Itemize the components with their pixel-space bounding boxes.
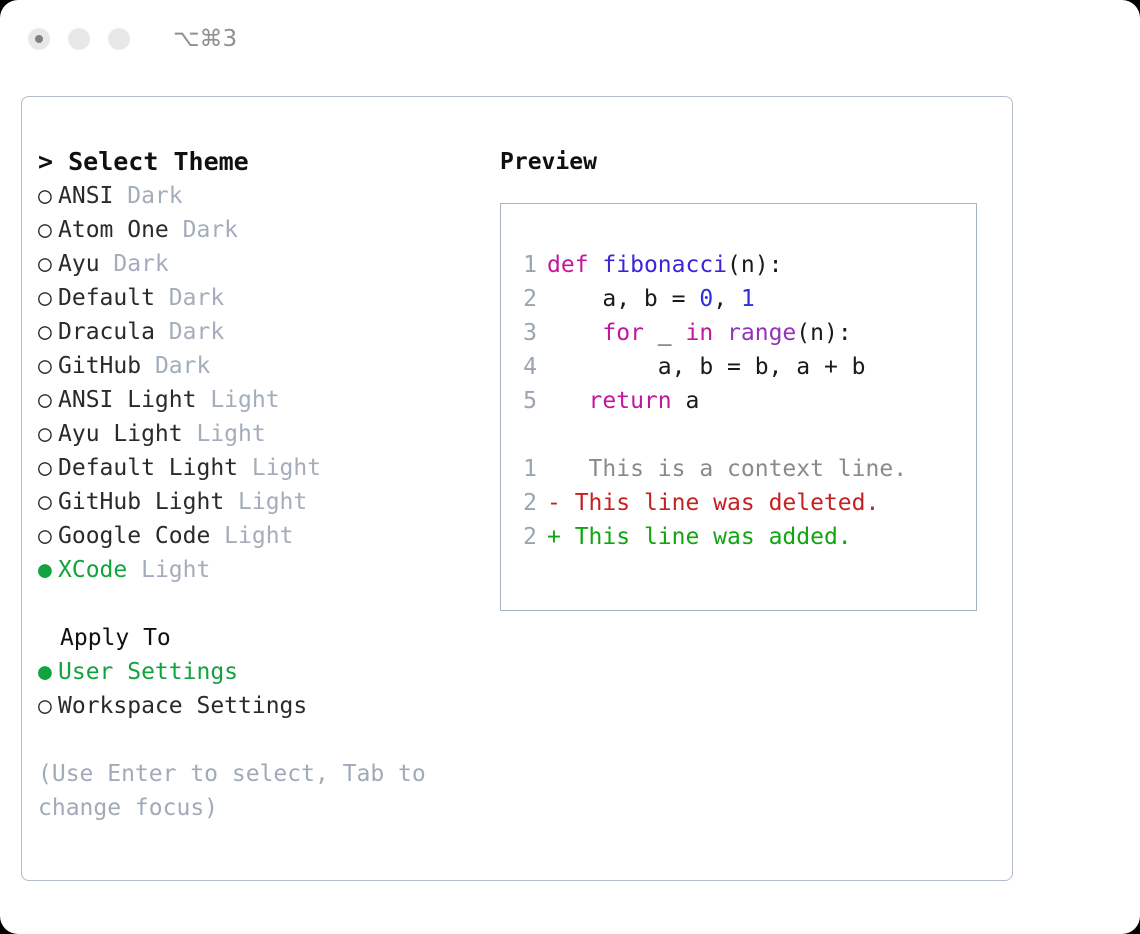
code-line: 1def fibonacci(n): xyxy=(517,248,976,282)
code-token-kw: def xyxy=(547,252,589,278)
radio-unselected-icon: ○ xyxy=(38,213,58,247)
theme-kind-label: Dark xyxy=(155,285,224,311)
apply-to-option[interactable]: ●User Settings xyxy=(38,655,498,689)
theme-selector-column: > Select Theme ○ANSI Dark○Atom One Dark○… xyxy=(22,97,498,880)
theme-name-label: Ayu Light xyxy=(58,421,183,447)
code-line: 4 a, b = b, a + b xyxy=(517,350,976,384)
diff-line: 1 This is a context line. xyxy=(517,452,976,486)
code-line: 5 return a xyxy=(517,384,976,418)
select-theme-header: > Select Theme xyxy=(38,145,498,179)
radio-unselected-icon: ○ xyxy=(38,281,58,315)
theme-list-item[interactable]: ○Ayu Light Light xyxy=(38,417,498,451)
theme-list: ○ANSI Dark○Atom One Dark○Ayu Dark○Defaul… xyxy=(38,179,498,587)
theme-kind-label: Dark xyxy=(169,217,238,243)
code-token-plain xyxy=(547,388,589,414)
radio-unselected-icon: ○ xyxy=(38,689,58,723)
theme-kind-label: Light xyxy=(127,557,210,583)
theme-list-item[interactable]: ●XCode Light xyxy=(38,553,498,587)
theme-name-label: Atom One xyxy=(58,217,169,243)
theme-list-item[interactable]: ○ANSI Light Light xyxy=(38,383,498,417)
diff-marker xyxy=(547,456,561,482)
theme-name-label: Default Light xyxy=(58,455,238,481)
diff-marker: + xyxy=(547,524,561,550)
code-token-fn: fibonacci xyxy=(602,252,727,278)
window-titlebar: ⌥⌘3 xyxy=(0,0,1140,78)
keyboard-shortcut-label: ⌥⌘3 xyxy=(173,26,237,52)
diff-line-number: 2 xyxy=(517,520,537,554)
diff-line-number: 2 xyxy=(517,486,537,520)
theme-kind-label: Light xyxy=(183,421,266,447)
section-spacer xyxy=(38,587,498,621)
diff-line-number: 1 xyxy=(517,452,537,486)
diff-text: This line was added. xyxy=(561,524,852,550)
main-panel: > Select Theme ○ANSI Dark○Atom One Dark○… xyxy=(21,96,1013,881)
code-line-number: 2 xyxy=(517,282,537,316)
theme-name-label: Dracula xyxy=(58,319,155,345)
diff-sample: 1 This is a context line.2- This line wa… xyxy=(517,452,976,554)
code-diff-spacer xyxy=(517,418,976,452)
radio-unselected-icon: ○ xyxy=(38,417,58,451)
code-token-plain xyxy=(713,320,727,346)
window-dot-active-icon[interactable] xyxy=(28,28,50,50)
theme-name-label: XCode xyxy=(58,557,127,583)
theme-list-item[interactable]: ○Ayu Dark xyxy=(38,247,498,281)
code-token-plain: _ xyxy=(644,320,686,346)
theme-list-item[interactable]: ○GitHub Light Light xyxy=(38,485,498,519)
app-window: ⌥⌘3 > Select Theme ○ANSI Dark○Atom One D… xyxy=(0,0,1140,934)
code-token-plain: (n): xyxy=(796,320,851,346)
theme-name-label: ANSI Light xyxy=(58,387,196,413)
preview-column: Preview 1def fibonacci(n):2 a, b = 0, 13… xyxy=(498,97,1012,880)
theme-kind-label: Dark xyxy=(141,353,210,379)
apply-to-header: Apply To xyxy=(38,621,498,655)
radio-unselected-icon: ○ xyxy=(38,519,58,553)
theme-list-item[interactable]: ○Atom One Dark xyxy=(38,213,498,247)
code-line-number: 1 xyxy=(517,248,537,282)
radio-unselected-icon: ○ xyxy=(38,485,58,519)
radio-unselected-icon: ○ xyxy=(38,247,58,281)
apply-to-option-label: User Settings xyxy=(58,659,238,685)
theme-list-item[interactable]: ○Dracula Dark xyxy=(38,315,498,349)
code-token-plain xyxy=(589,252,603,278)
window-dot-inner xyxy=(35,35,43,43)
radio-unselected-icon: ○ xyxy=(38,451,58,485)
apply-to-option-label: Workspace Settings xyxy=(58,693,307,719)
code-token-plain: , xyxy=(713,286,741,312)
code-token-num: 0 xyxy=(699,286,713,312)
theme-name-label: Ayu xyxy=(58,251,100,277)
radio-unselected-icon: ○ xyxy=(38,179,58,213)
code-token-plain xyxy=(547,320,602,346)
code-line-number: 3 xyxy=(517,316,537,350)
theme-name-label: Default xyxy=(58,285,155,311)
radio-selected-icon: ● xyxy=(38,553,58,587)
code-line-number: 4 xyxy=(517,350,537,384)
diff-line: 2+ This line was added. xyxy=(517,520,976,554)
theme-kind-label: Dark xyxy=(100,251,169,277)
theme-kind-label: Light xyxy=(196,387,279,413)
theme-name-label: Google Code xyxy=(58,523,210,549)
keyboard-hint-text: (Use Enter to select, Tab to change focu… xyxy=(38,757,448,825)
code-line: 3 for _ in range(n): xyxy=(517,316,976,350)
window-dot-3-icon[interactable] xyxy=(108,28,130,50)
preview-title: Preview xyxy=(500,145,1012,179)
radio-unselected-icon: ○ xyxy=(38,315,58,349)
theme-kind-label: Dark xyxy=(113,183,182,209)
theme-kind-label: Dark xyxy=(155,319,224,345)
code-token-plain: a, b = xyxy=(547,286,699,312)
theme-list-item[interactable]: ○Default Dark xyxy=(38,281,498,315)
apply-to-list: ●User Settings○Workspace Settings xyxy=(38,655,498,723)
preview-box: 1def fibonacci(n):2 a, b = 0, 13 for _ i… xyxy=(500,203,977,611)
code-token-kw: for xyxy=(602,320,644,346)
code-token-num: 1 xyxy=(741,286,755,312)
code-line-number: 5 xyxy=(517,384,537,418)
theme-list-item[interactable]: ○GitHub Dark xyxy=(38,349,498,383)
code-token-plain: a xyxy=(672,388,700,414)
theme-kind-label: Light xyxy=(238,455,321,481)
code-token-kw: return xyxy=(589,388,672,414)
diff-text: This is a context line. xyxy=(561,456,907,482)
radio-selected-icon: ● xyxy=(38,655,58,689)
code-line: 2 a, b = 0, 1 xyxy=(517,282,976,316)
theme-kind-label: Light xyxy=(224,489,307,515)
diff-line: 2- This line was deleted. xyxy=(517,486,976,520)
theme-name-label: ANSI xyxy=(58,183,113,209)
diff-marker: - xyxy=(547,490,561,516)
code-token-kw: in xyxy=(685,320,713,346)
theme-name-label: GitHub xyxy=(58,353,141,379)
apply-to-option[interactable]: ○Workspace Settings xyxy=(38,689,498,723)
diff-text: This line was deleted. xyxy=(561,490,880,516)
theme-list-item[interactable]: ○ANSI Dark xyxy=(38,179,498,213)
code-token-plain: (n): xyxy=(727,252,782,278)
theme-list-item[interactable]: ○Google Code Light xyxy=(38,519,498,553)
window-dot-2-icon[interactable] xyxy=(68,28,90,50)
code-token-builtin: range xyxy=(727,320,796,346)
code-sample: 1def fibonacci(n):2 a, b = 0, 13 for _ i… xyxy=(517,248,976,418)
radio-unselected-icon: ○ xyxy=(38,349,58,383)
radio-unselected-icon: ○ xyxy=(38,383,58,417)
code-token-plain: a, b = b, a + b xyxy=(547,354,866,380)
theme-list-item[interactable]: ○Default Light Light xyxy=(38,451,498,485)
theme-kind-label: Light xyxy=(210,523,293,549)
theme-name-label: GitHub Light xyxy=(58,489,224,515)
